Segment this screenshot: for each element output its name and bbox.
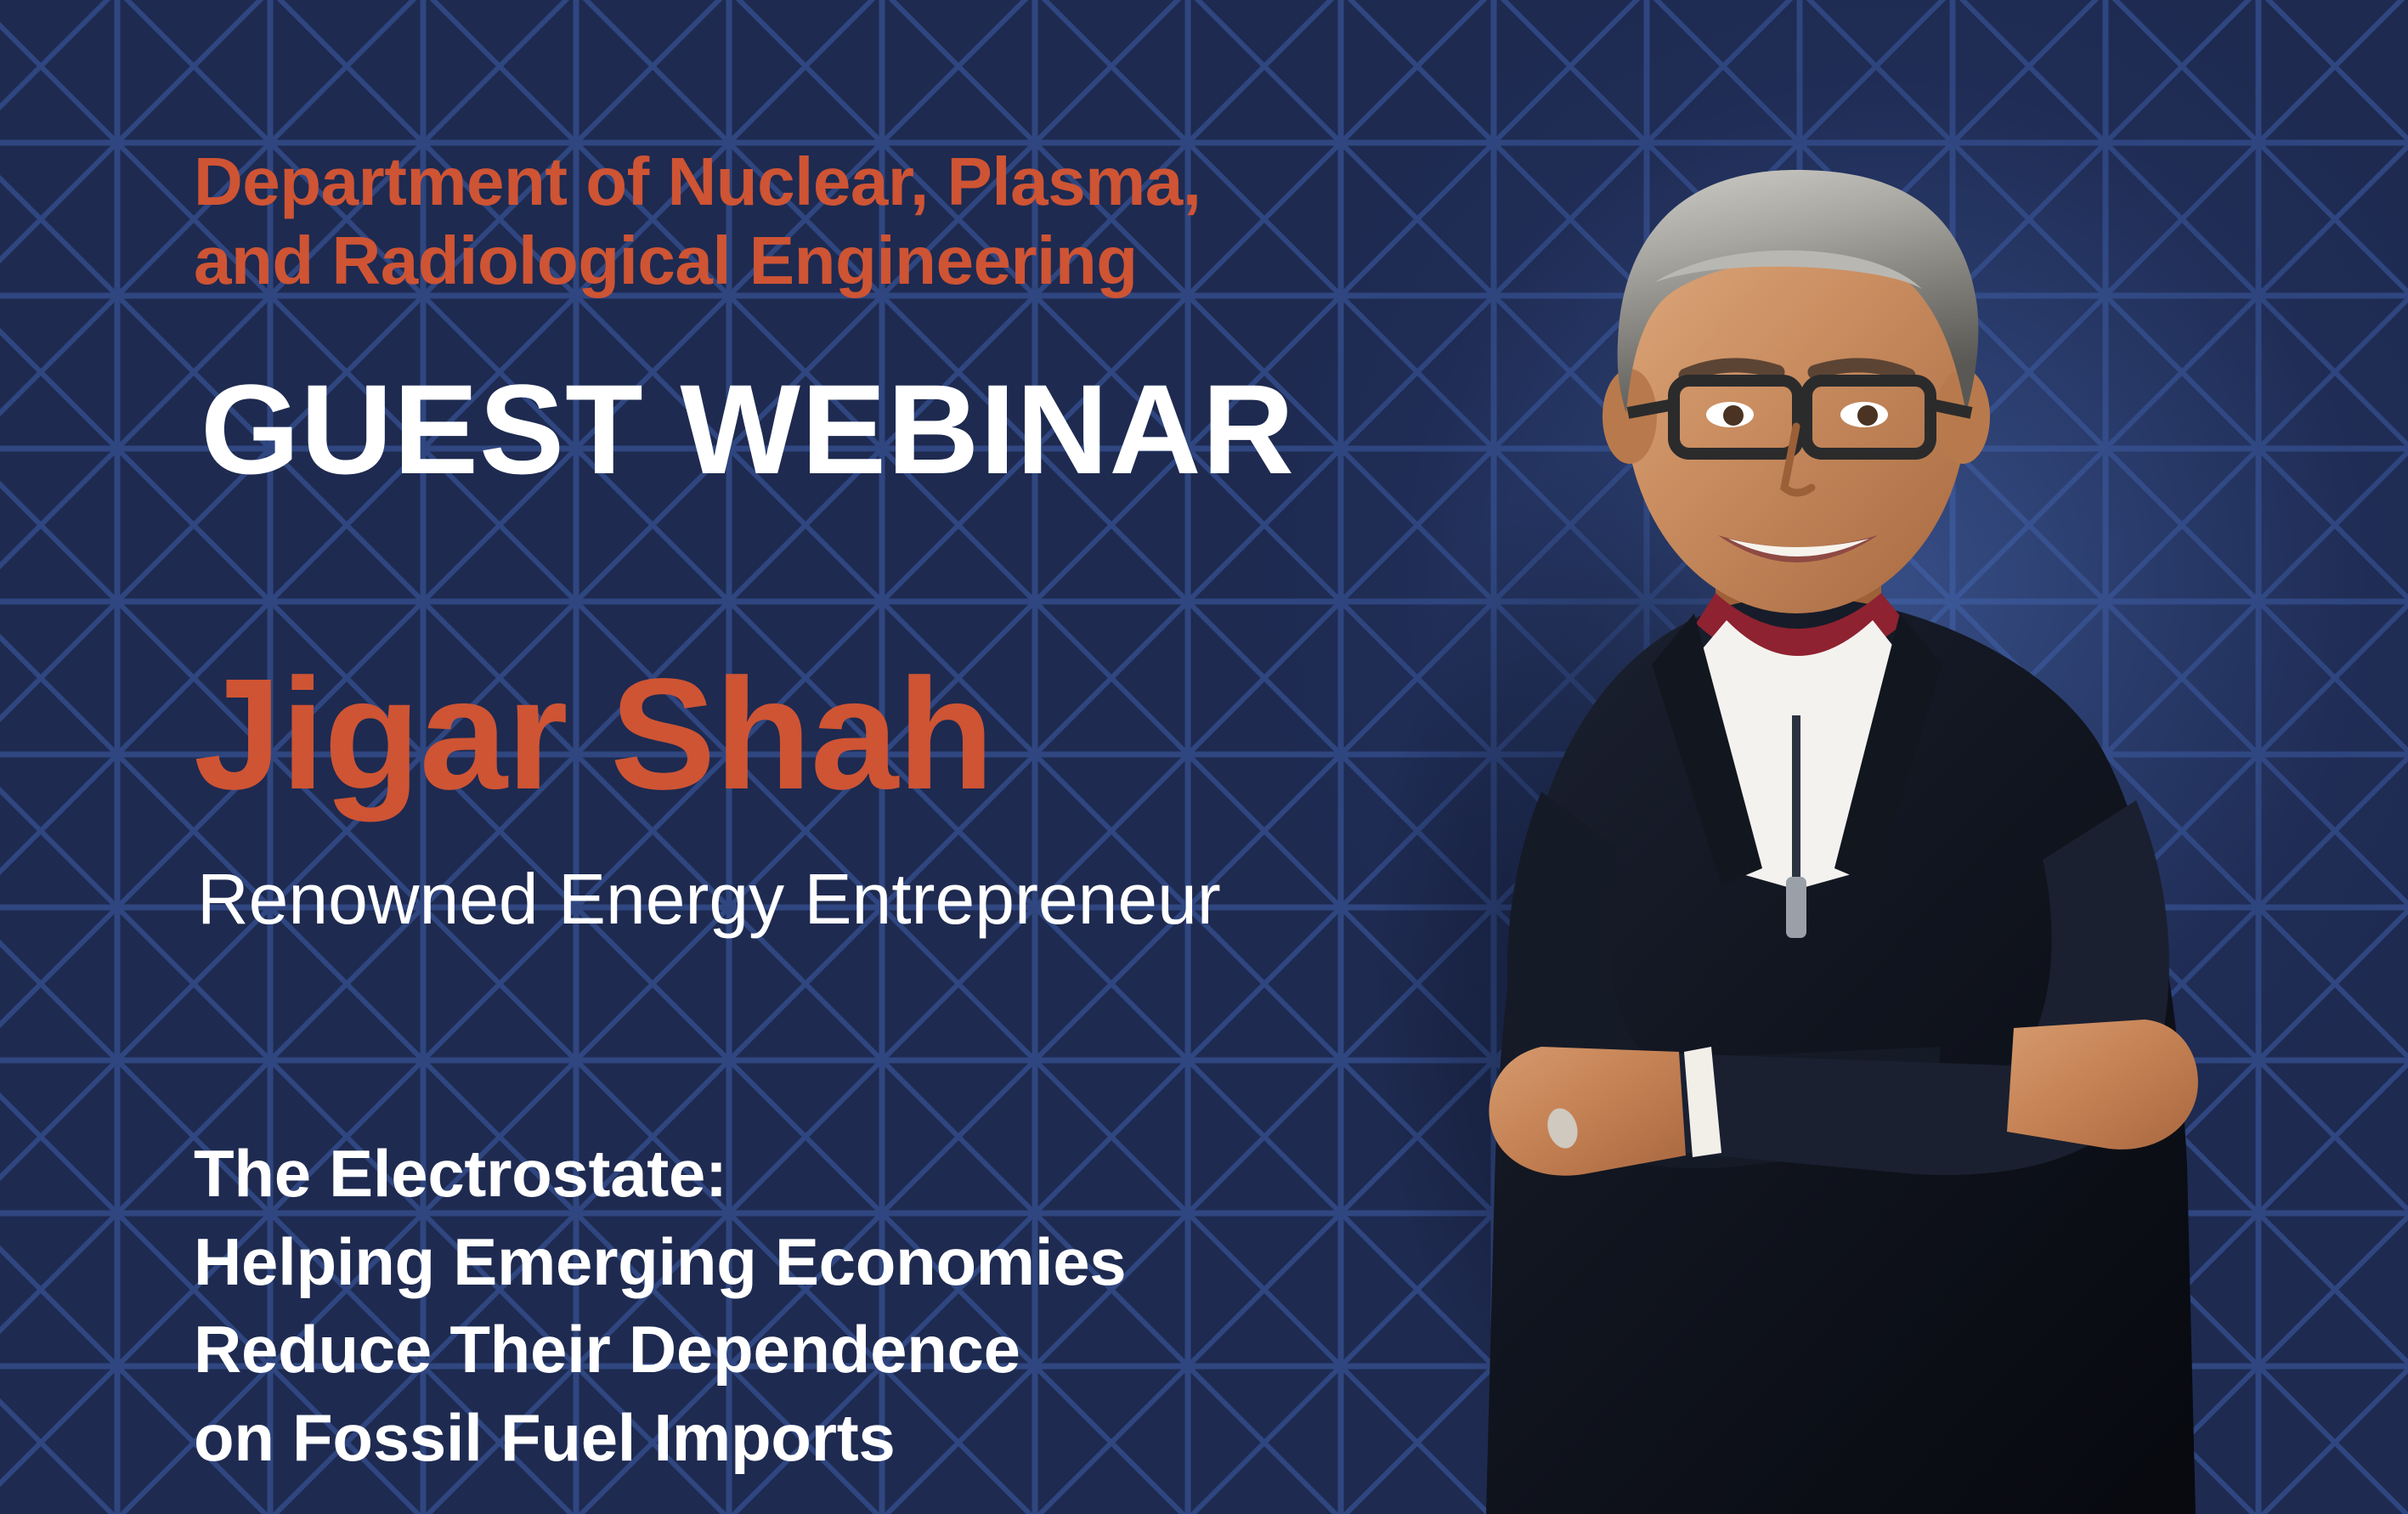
right-pupil: [1857, 405, 1878, 426]
event-type-label: GUEST WEBINAR: [201, 365, 1295, 493]
zip-pull: [1786, 877, 1806, 938]
talk-title-line-3: Reduce Their Dependence: [194, 1306, 1519, 1394]
talk-title-line-1: The Electrostate:: [194, 1130, 1519, 1218]
left-pupil: [1723, 405, 1744, 426]
department-name: Department of Nuclear, Plasma, and Radio…: [194, 143, 1638, 301]
speaker-name: Jigar Shah: [194, 656, 993, 814]
talk-title-line-4: on Fossil Fuel Imports: [194, 1394, 1519, 1483]
talk-title-line-2: Helping Emerging Economies: [194, 1218, 1519, 1307]
talk-title: The Electrostate: Helping Emerging Econo…: [194, 1130, 1519, 1483]
text-column: Department of Nuclear, Plasma, and Radio…: [194, 0, 1655, 1514]
webinar-poster: Department of Nuclear, Plasma, and Radio…: [0, 0, 2408, 1514]
department-line-1: Department of Nuclear, Plasma,: [194, 143, 1638, 222]
department-line-2: and Radiological Engineering: [194, 222, 1638, 301]
left-hand: [2007, 1020, 2198, 1150]
speaker-title: Renowned Energy Entrepreneur: [197, 860, 1221, 938]
